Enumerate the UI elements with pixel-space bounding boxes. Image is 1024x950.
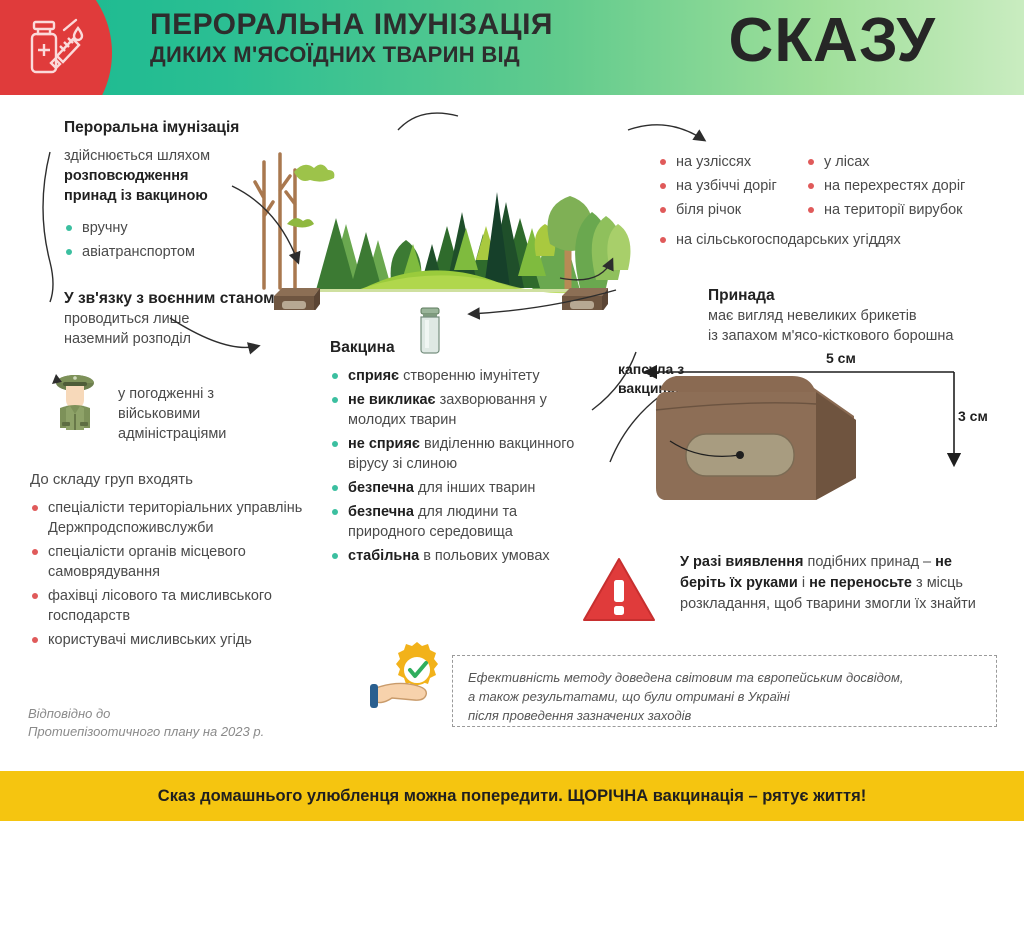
list-item: фахівці лісового та мисливського господа…	[30, 586, 320, 626]
locations-column-b: у лісах на перехрестях доріг на територі…	[806, 152, 1021, 224]
list-item: спеціалісти органів місцевого самоврядув…	[30, 542, 320, 582]
footer: ПРЯМУЄМО РАЗОМ ПРОЄКТ ФІНАНСУЄТЬСЯ ЄВРОП…	[0, 821, 1024, 950]
list-item: безпечна для інших тварин	[330, 478, 580, 498]
list-item: на сільськогосподарських угіддях	[658, 230, 1018, 250]
martial-law-text: проводиться лише наземний розподіл	[64, 309, 264, 349]
oral-text-bold-2: принад із вакциною	[64, 188, 208, 204]
locations-column-a: на узліссях на узбіччі доріг біля річок	[658, 152, 808, 224]
warning-bold-1: У разі виявлення	[680, 554, 803, 570]
yellow-call-to-action-banner: Сказ домашнього улюбленця можна попереди…	[0, 771, 1024, 821]
plan-note-line-1: Відповідно до	[28, 706, 110, 721]
vaccine-prop-bold: сприяє	[348, 368, 399, 384]
list-item: не сприяє виділенню вакцинного вірусу зі…	[330, 434, 580, 474]
warning-plain-2: і	[798, 575, 809, 591]
plan-reference-note: Відповідно до Протиепізоотичного плану н…	[28, 705, 328, 741]
locations-wide-list: на сільськогосподарських угіддях	[658, 230, 1018, 254]
warning-text: У разі виявлення подібних принад – не бе…	[680, 552, 1000, 615]
vaccine-prop-rest: створенню імунітету	[399, 368, 540, 384]
bait-line-2: із запахом м'ясо-кісткового борошна	[708, 328, 953, 344]
bait-line-1: має вигляд невеликих брикетів	[708, 308, 917, 324]
bait-height-label: 3 см	[958, 408, 988, 424]
groups-list: спеціалісти територіальних управлінь Дер…	[30, 498, 320, 654]
vaccine-prop-rest: для інших тварин	[414, 480, 536, 496]
soldier-icon	[42, 368, 108, 434]
hand-check-gear-icon	[370, 640, 462, 718]
list-item: стабільна в польових умовах	[330, 546, 580, 566]
military-approval-text: у погодженні з військовими адміністрація…	[118, 384, 278, 444]
martial-law-line-1: проводиться лише	[64, 311, 189, 327]
groups-heading: До складу груп входять	[30, 470, 310, 490]
vaccine-prop-rest: в польових умовах	[419, 548, 550, 564]
list-item: сприяє створенню імунітету	[330, 366, 580, 386]
list-item: на перехрестях доріг	[806, 176, 1021, 196]
vaccine-properties-list: сприяє створенню імунітету не викликає з…	[330, 366, 580, 570]
vaccine-prop-bold: безпечна	[348, 480, 414, 496]
list-item: біля річок	[658, 200, 808, 220]
bait-block-right	[562, 288, 608, 310]
efficacy-text: Ефективність методу доведена світовим та…	[468, 668, 988, 725]
efficacy-line-1: Ефективність методу доведена світовим та…	[468, 670, 904, 685]
list-item: на узліссях	[658, 152, 808, 172]
warning-bold-3: не переносьте	[809, 575, 912, 591]
list-item: на узбіччі доріг	[658, 176, 808, 196]
vaccine-prop-bold: безпечна	[348, 504, 414, 520]
vaccine-prop-bold: не сприяє	[348, 436, 420, 452]
list-item: у лісах	[806, 152, 1021, 172]
list-item: не викликає захворювання у молодих твари…	[330, 390, 580, 430]
list-item: користувачі мисливських угідь	[30, 630, 320, 650]
oral-text-plain: здійснюється шляхом	[64, 148, 210, 164]
vaccine-heading: Вакцина	[330, 338, 450, 358]
forest-illustration	[232, 120, 652, 310]
banner-text: Сказ домашнього улюбленця можна попереди…	[158, 787, 866, 806]
military-line-2: військовими	[118, 406, 200, 422]
list-item: на території вирубок	[806, 200, 1021, 220]
bait-width-label: 5 см	[826, 350, 856, 366]
list-item: безпечна для людини та природного середо…	[330, 502, 580, 542]
bait-block-left	[274, 288, 320, 310]
bait-dimension-diagram	[624, 348, 1024, 528]
warning-plain-1: подібних принад –	[803, 554, 935, 570]
efficacy-line-2: а також результатами, що були отримані в…	[468, 689, 790, 704]
bait-heading: Принада	[708, 286, 1008, 306]
list-item: спеціалісти територіальних управлінь Дер…	[30, 498, 320, 538]
military-line-1: у погодженні з	[118, 386, 214, 402]
plan-note-line-2: Протиепізоотичного плану на 2023 р.	[28, 724, 264, 739]
military-line-3: адміністраціями	[118, 426, 226, 442]
bait-description: має вигляд невеликих брикетів із запахом…	[708, 306, 1018, 346]
vaccine-prop-bold: стабільна	[348, 548, 419, 564]
title-big: СКАЗУ	[729, 2, 936, 80]
vaccine-prop-bold: не викликає	[348, 392, 436, 408]
header-banner: ПЕРОРАЛЬНА ІМУНІЗАЦІЯ ДИКИХ М'ЯСОЇДНИХ Т…	[0, 0, 1024, 95]
oral-text-bold-1: розповсюдження	[64, 168, 189, 184]
vaccine-bottle-syringe-icon	[24, 16, 86, 80]
warning-triangle-icon	[582, 556, 656, 624]
infographic-page: ПЕРОРАЛЬНА ІМУНІЗАЦІЯ ДИКИХ М'ЯСОЇДНИХ Т…	[0, 0, 1024, 950]
efficacy-line-3: після проведення зазначених заходів	[468, 708, 691, 723]
martial-law-line-2: наземний розподіл	[64, 331, 191, 347]
